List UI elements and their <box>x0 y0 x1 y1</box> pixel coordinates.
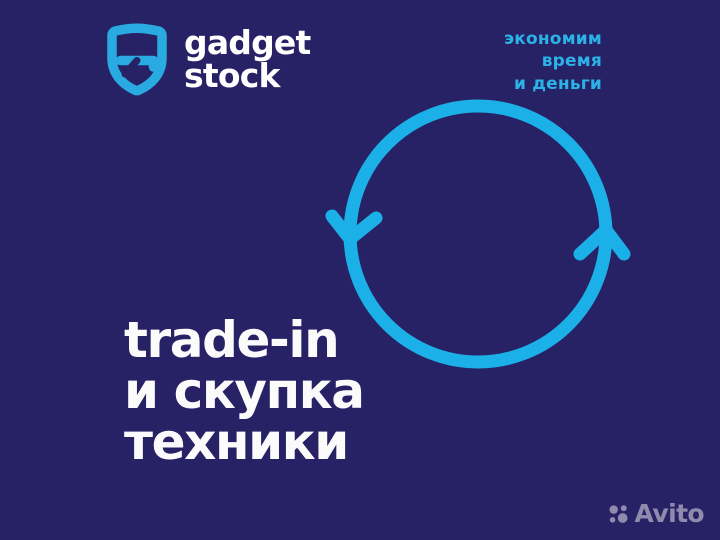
poster-canvas: gadget stock экономим время и деньги tra… <box>0 0 720 540</box>
headline: trade-in и скупка техники <box>124 315 364 468</box>
tagline: экономим время и деньги <box>504 28 602 95</box>
headline-line-3: техники <box>124 417 364 468</box>
tagline-line-2: время <box>504 50 602 72</box>
headline-line-2: и скупка <box>124 366 364 417</box>
avito-watermark: Avito <box>608 501 704 526</box>
cycle-arrows-graphic <box>332 88 624 380</box>
avito-dots-icon <box>608 503 630 525</box>
brand-wordmark: gadget stock <box>184 25 311 92</box>
avito-watermark-label: Avito <box>635 501 704 526</box>
cycle-arrows-icon <box>332 88 624 380</box>
gadget-stock-shield-icon <box>104 22 170 96</box>
brand-wordmark-line-2: stock <box>184 60 311 93</box>
brand-logo: gadget stock <box>104 22 311 96</box>
tagline-line-1: экономим <box>504 28 602 50</box>
headline-line-1: trade-in <box>124 315 364 366</box>
